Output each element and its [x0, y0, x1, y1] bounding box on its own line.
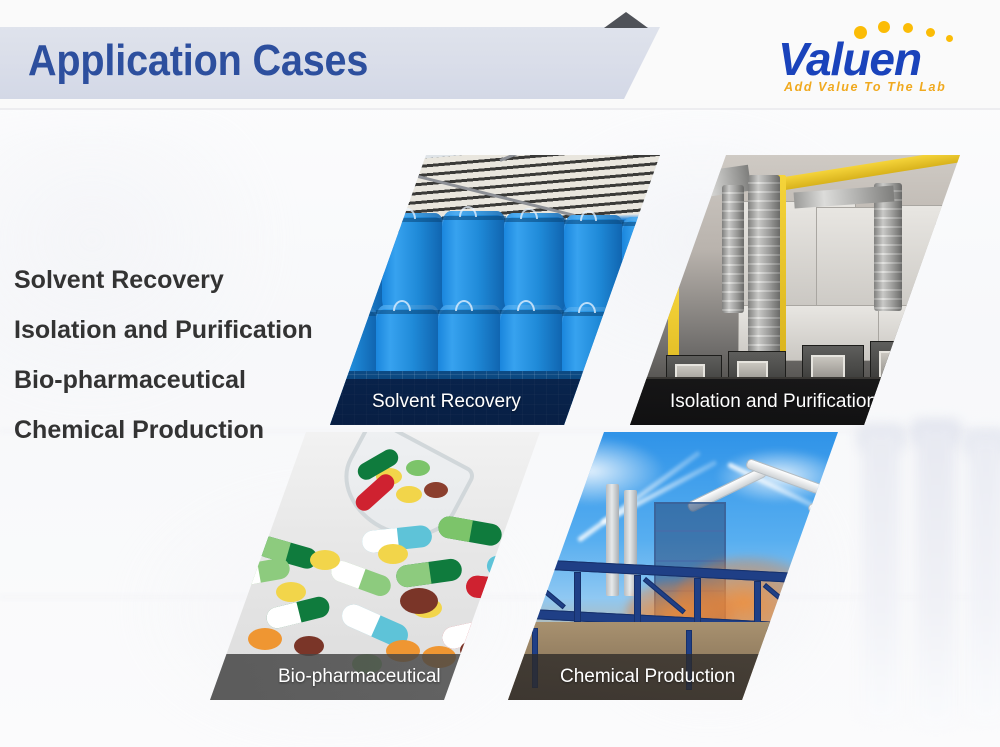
photo-detail-pill	[396, 486, 422, 503]
photo-detail-duct	[722, 185, 744, 313]
feature-list-item: Bio-pharmaceutical	[14, 355, 374, 405]
card-caption-band: Solvent Recovery	[330, 379, 660, 425]
photo-detail-wall-panel	[892, 205, 960, 321]
logo-wordmark: Valuen	[778, 32, 921, 86]
photo-detail-stack	[606, 484, 619, 596]
card-caption-band: Bio-pharmaceutical	[210, 654, 540, 700]
photo-detail-barrel	[382, 213, 444, 313]
card-caption-label: Chemical Production	[508, 666, 735, 688]
photo-detail-steel-column	[574, 572, 581, 622]
case-card-solvent-recovery[interactable]: Solvent Recovery	[330, 155, 660, 425]
photo-detail-steel-brace	[523, 572, 566, 609]
photo-detail-pill	[248, 628, 282, 650]
photo-detail-pill	[460, 640, 490, 660]
photo-detail-steel-column	[796, 632, 802, 692]
card-caption-label: Bio-pharmaceutical	[210, 666, 441, 688]
photo-detail-barrel	[504, 213, 566, 313]
logo-tagline: Add Value To The Lab	[784, 80, 946, 94]
photo-detail-pill	[310, 550, 340, 570]
brand-logo[interactable]: Valuen Add Value To The Lab	[778, 14, 978, 98]
photo-detail-steel-column	[814, 584, 821, 634]
photo-detail-equipment-box	[936, 337, 960, 389]
photo-detail-equipment-box	[870, 341, 932, 395]
photo-detail-capsule	[498, 591, 540, 626]
photo-detail-wall-panel	[878, 305, 960, 361]
header-divider	[0, 108, 1000, 110]
photo-detail-capsule	[440, 615, 509, 650]
case-card-chemical-production[interactable]: Chemical Production	[508, 432, 838, 700]
photo-detail-steel-column	[694, 578, 701, 628]
photo-detail-steel-column	[634, 575, 641, 625]
photo-detail-pill	[294, 636, 324, 656]
photo-detail-steel-column	[514, 570, 521, 620]
card-caption-band: Isolation and Purification	[630, 379, 960, 425]
feature-list-item: Isolation and Purification	[14, 305, 374, 355]
photo-detail-capsule	[437, 515, 504, 548]
photo-detail-barrel	[564, 215, 624, 313]
photo-detail-barrel	[622, 217, 660, 313]
page-title: Application Cases	[28, 36, 368, 86]
photo-detail-pill	[400, 588, 438, 614]
photo-detail-capsule	[465, 575, 533, 604]
photo-detail-capsule	[499, 534, 540, 560]
feature-list-item: Solvent Recovery	[14, 255, 374, 305]
card-caption-band: Chemical Production	[508, 654, 838, 700]
photo-detail-pill	[276, 582, 306, 602]
page-header: Application Cases Valuen Add Value To Th…	[0, 0, 1000, 110]
photo-detail-pill	[378, 544, 408, 564]
feature-list: Solvent Recovery Isolation and Purificat…	[14, 255, 374, 455]
photo-detail-capsule	[484, 542, 540, 579]
photo-detail-pill	[424, 482, 448, 498]
photo-detail-pill	[406, 460, 430, 476]
feature-list-item: Chemical Production	[14, 405, 374, 455]
case-card-bio-pharmaceutical[interactable]: Bio-pharmaceutical	[210, 432, 540, 700]
case-card-isolation-purification[interactable]: Isolation and Purification	[630, 155, 960, 425]
header-arrow-marker-icon	[604, 12, 648, 28]
photo-detail-capsule	[395, 558, 463, 589]
photo-detail-barrel	[442, 211, 506, 313]
card-caption-label: Isolation and Purification	[630, 391, 877, 413]
